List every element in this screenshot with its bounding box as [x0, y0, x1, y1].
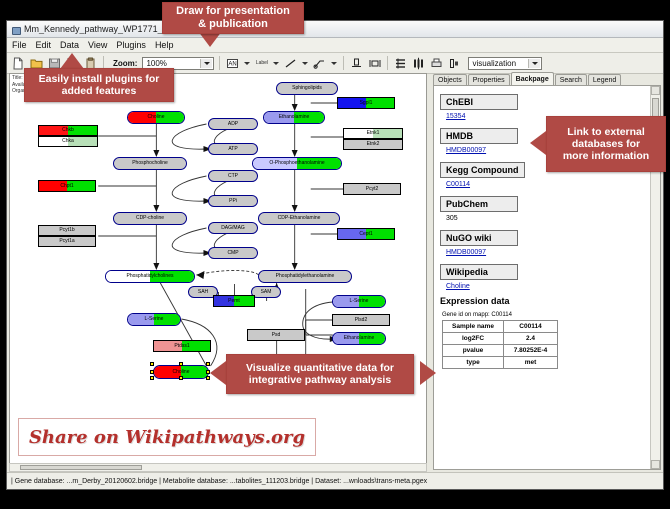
menu-bar: File Edit Data View Plugins Help	[7, 38, 663, 53]
node-label: Ethanolamine	[279, 115, 310, 120]
database-block-nugo-wiki: NuGO wikiHMDB00097	[440, 228, 660, 256]
node-label: Choline	[173, 370, 190, 375]
title-bar: Mm_Kennedy_pathway_WP1771_45176.gpml	[7, 21, 663, 38]
database-name: Kegg Compound	[440, 162, 525, 178]
table-row: typemet	[443, 357, 558, 369]
database-value: 305	[440, 212, 660, 222]
node-label: Pemt	[228, 299, 240, 304]
print-icon[interactable]	[429, 56, 444, 71]
database-name: Wikipedia	[440, 264, 518, 280]
expression-key: pvalue	[443, 345, 504, 357]
zoom-value: 100%	[146, 59, 166, 68]
callout-text: Draw for presentation & publication	[176, 5, 290, 30]
callout-arrow-left-icon	[530, 131, 546, 155]
callout-visualize-quantitative-data: Visualize quantitative data for integrat…	[226, 354, 414, 394]
node-label: Ethanolamine	[344, 336, 375, 341]
node-label: CTP	[228, 174, 238, 179]
line-icon[interactable]	[283, 56, 298, 71]
scroll-down-icon[interactable]	[651, 460, 660, 469]
node-label: Sphingolipids	[292, 86, 322, 91]
node-label: PPi	[229, 199, 237, 204]
metabolite-node-ethanolamine[interactable]: Ethanolamine	[263, 111, 325, 124]
gene-node-pcyt2[interactable]: Pcyt2	[343, 183, 401, 195]
menu-file[interactable]: File	[12, 40, 27, 50]
node-label: DAG/MAG	[221, 226, 245, 231]
status-bar: | Gene database: ...m_Derby_20120602.bri…	[7, 472, 663, 489]
selection-handle[interactable]	[150, 362, 154, 366]
node-label: Pcyt1a	[59, 239, 74, 244]
callout-text: Visualize quantitative data for integrat…	[246, 362, 394, 386]
tab-label: Search	[560, 77, 582, 84]
share-text: Share on Wikipathways.org	[29, 427, 305, 448]
table-row: pvalue7.80252E-4	[443, 345, 558, 357]
node-label: CMP	[227, 251, 238, 256]
callout-link-to-external-databases: Link to external databases for more info…	[546, 116, 666, 172]
node-label: ADP	[228, 122, 238, 127]
metabolite-node-dagmag[interactable]: DAG/MAG	[208, 222, 258, 234]
selection-handle[interactable]	[179, 376, 183, 380]
selection-handle[interactable]	[150, 376, 154, 380]
svg-text:AN: AN	[229, 61, 237, 67]
metabolite-node-choline_top[interactable]: Choline	[127, 111, 185, 124]
callout-text: Easily install plugins for added feature…	[39, 73, 160, 97]
interaction-icon[interactable]	[312, 56, 327, 71]
chevron-down-icon[interactable]	[330, 56, 338, 70]
metabolite-node-ctp[interactable]: CTP	[208, 170, 258, 182]
database-block-wikipedia: WikipediaCholine	[440, 262, 660, 290]
node-label: SAH	[198, 290, 208, 295]
app-icon	[11, 25, 20, 34]
node-label: ATP	[228, 147, 237, 152]
node-label: Chka	[62, 139, 74, 144]
scroll-up-icon[interactable]	[651, 86, 660, 95]
node-label: CDP-Ethanolamine	[278, 216, 321, 221]
node-label: Choline	[148, 115, 165, 120]
node-label: CDP-choline	[136, 216, 164, 221]
metabolite-node-atp[interactable]: ATP	[208, 143, 258, 155]
node-label: Phosphatidylcholines	[127, 274, 174, 279]
gene-node-psd[interactable]: Psd	[247, 329, 305, 341]
label-text-icon[interactable]: Label	[254, 56, 269, 71]
database-link[interactable]: HMDB00097	[440, 246, 660, 256]
selection-handle[interactable]	[150, 370, 154, 374]
chevron-down-icon[interactable]	[528, 59, 540, 68]
menu-plugins[interactable]: Plugins	[116, 40, 146, 50]
chevron-down-icon[interactable]	[200, 59, 212, 68]
gene-node-etnk1[interactable]: Etnk1	[343, 128, 403, 139]
gene-node-sgpl1[interactable]: Sgpl1	[337, 97, 395, 109]
gene-id-line: Gene id on mapp: C00114	[442, 312, 660, 318]
callout-draw-for-presentation: Draw for presentation & publication	[162, 2, 304, 34]
tab-label: Legend	[593, 77, 616, 84]
database-link[interactable]: C00114	[440, 178, 660, 188]
toolbar-separator	[343, 56, 344, 70]
toolbar-separator	[387, 56, 388, 70]
node-label: Phosphatidylethanolamine	[276, 274, 335, 279]
metabolite-node-adp[interactable]: ADP	[208, 118, 258, 130]
metabolite-node-cmp[interactable]: CMP	[208, 247, 258, 259]
visualization-value: visualization	[472, 59, 516, 68]
toolbar-separator	[219, 56, 220, 70]
node-label: SAM	[261, 290, 272, 295]
stack-icon[interactable]	[393, 56, 408, 71]
expression-key: log2FC	[443, 333, 504, 345]
metabolite-node-sphingolipids[interactable]: Sphingolipids	[276, 82, 338, 95]
node-label: Etnk1	[367, 131, 380, 136]
gene-node-chka[interactable]: Chka	[38, 136, 98, 147]
callout-arrow-right-icon	[420, 361, 436, 385]
expression-table: Sample nameC00114log2FC2.4pvalue7.80252E…	[442, 320, 558, 369]
gene-node-pcyt1b[interactable]: Pcyt1b	[38, 225, 96, 236]
node-label: Sgpl1	[360, 101, 373, 106]
expression-value: met	[504, 357, 558, 369]
menu-view[interactable]: View	[88, 40, 107, 50]
expression-key: Sample name	[443, 321, 504, 333]
gene-node-pemt[interactable]: Pemt	[213, 295, 255, 307]
group-icon[interactable]	[411, 56, 426, 71]
metabolite-node-ppi[interactable]: PPi	[208, 195, 258, 207]
tab-label: Backpage	[516, 76, 549, 83]
expression-value: C00114	[504, 321, 558, 333]
table-row: Sample nameC00114	[443, 321, 558, 333]
gene-node-ptdss1[interactable]: Ptdss1	[153, 340, 211, 352]
screenshot-root: Mm_Kennedy_pathway_WP1771_45176.gpml Fil…	[0, 0, 670, 509]
gene-node-pisd2[interactable]: Plsd2	[332, 314, 390, 326]
callout-share-on-wikipathways: Share on Wikipathways.org	[18, 418, 316, 456]
database-name: PubChem	[440, 196, 518, 212]
node-label: O-Phosphoethanolamine	[269, 161, 324, 166]
scroll-thumb[interactable]	[20, 465, 142, 470]
expression-value: 7.80252E-4	[504, 345, 558, 357]
gene-node-etnk2[interactable]: Etnk2	[343, 139, 403, 150]
node-label: Plsd2	[355, 318, 368, 323]
tab-backpage[interactable]: Backpage	[511, 72, 554, 86]
metabolite-node-phosphatidylethanolamine[interactable]: Phosphatidylethanolamine	[258, 270, 352, 283]
table-row: log2FC2.4	[443, 333, 558, 345]
tab-label: Objects	[438, 77, 462, 84]
metabolite-node-cdp_ethanolamine[interactable]: CDP-Ethanolamine	[258, 212, 340, 225]
node-label: Chkb	[62, 128, 74, 133]
canvas-horizontal-scrollbar[interactable]	[9, 463, 427, 472]
gene-node-chpt1[interactable]: Chpt1	[38, 180, 96, 192]
menu-edit[interactable]: Edit	[36, 40, 52, 50]
distribute-icon[interactable]	[367, 56, 382, 71]
chevron-down-icon[interactable]	[243, 56, 251, 70]
database-link[interactable]: Choline	[440, 280, 660, 290]
node-label: Cept1	[359, 232, 372, 237]
layer-icon[interactable]	[447, 56, 462, 71]
expression-key: type	[443, 357, 504, 369]
node-label: Pcyt1b	[59, 228, 74, 233]
node-label: Phosphocholine	[132, 161, 168, 166]
node-label: L-Serine	[350, 299, 369, 304]
callout-easily-install-plugins: Easily install plugins for added feature…	[24, 68, 174, 102]
selection-handle[interactable]	[179, 362, 183, 366]
metabolite-node-l_serine_right[interactable]: L-Serine	[332, 295, 386, 308]
gene-node-cept1[interactable]: Cept1	[337, 228, 395, 240]
expression-data-heading: Expression data	[440, 296, 660, 306]
chevron-down-icon[interactable]	[301, 56, 309, 70]
database-block-pubchem: PubChem305	[440, 194, 660, 222]
gene-node-chkb[interactable]: Chkb	[38, 125, 98, 136]
zoom-label: Zoom:	[113, 59, 137, 68]
database-name: ChEBI	[440, 94, 518, 110]
callout-arrow-left-icon	[210, 361, 226, 385]
callout-text: Link to external databases for more info…	[563, 126, 649, 162]
metabolite-node-l_serine_left[interactable]: L-Serine	[127, 313, 181, 326]
node-label: Chpt1	[60, 184, 73, 189]
node-label: L-Serine	[145, 317, 164, 322]
database-name: HMDB	[440, 128, 518, 144]
status-text: | Gene database: ...m_Derby_20120602.bri…	[11, 478, 427, 485]
menu-help[interactable]: Help	[155, 40, 174, 50]
metabolite-node-cdp_choline[interactable]: CDP-choline	[113, 212, 187, 225]
gene-node-pcyt1a[interactable]: Pcyt1a	[38, 236, 96, 247]
visualization-combo[interactable]: visualization	[468, 57, 542, 70]
node-label: Ptdss1	[174, 344, 189, 349]
metabolite-node-o_phosphoethanolamine[interactable]: O-Phosphoethanolamine	[252, 157, 342, 170]
metabolite-node-sam[interactable]: SAM	[251, 286, 281, 298]
node-label: Etnk2	[367, 142, 380, 147]
callout-arrow-up-icon	[60, 53, 84, 69]
database-name: NuGO wiki	[440, 230, 518, 246]
expression-value: 2.4	[504, 333, 558, 345]
menu-data[interactable]: Data	[60, 40, 79, 50]
label-box-icon[interactable]: AN	[225, 56, 240, 71]
node-label: Pcyt2	[366, 187, 379, 192]
metabolite-node-phosphatidylcholine[interactable]: Phosphatidylcholines	[105, 270, 195, 283]
pathway-canvas[interactable]: Title: Availa Organi	[9, 73, 427, 470]
metabolite-node-phosphocholine[interactable]: Phosphocholine	[113, 157, 187, 170]
align-icon[interactable]	[349, 56, 364, 71]
node-label: Psd	[272, 333, 281, 338]
metabolite-node-ethanolamine_right[interactable]: Ethanolamine	[332, 332, 386, 345]
tab-label: Properties	[473, 77, 505, 84]
chevron-down-icon[interactable]	[272, 56, 280, 70]
